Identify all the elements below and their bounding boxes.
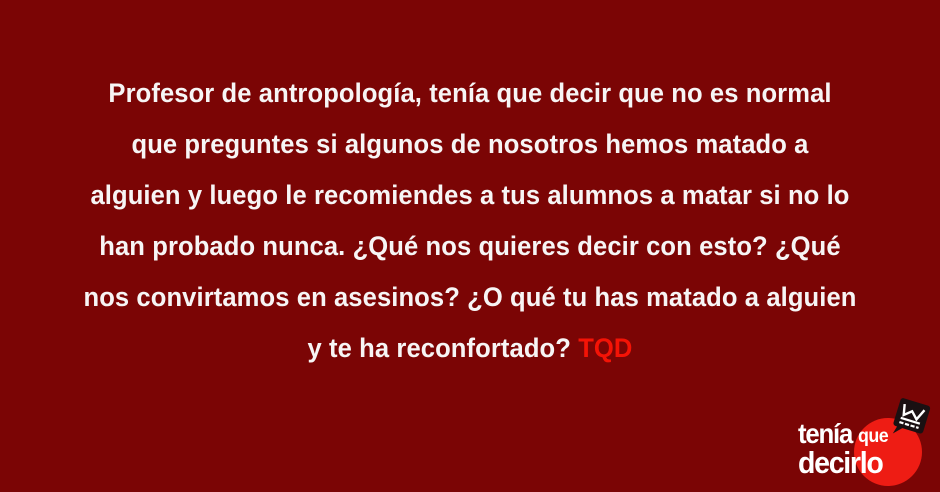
quote-line-2: que preguntes si algunos de nosotros hem… (16, 119, 923, 170)
quote-line-6: y te ha reconfortado? TQD (16, 323, 923, 374)
logo-line-2: decirlo (798, 447, 890, 478)
quote-line-4: han probado nunca. ¿Qué nos quieres deci… (16, 221, 923, 272)
quote-line-5: nos convirtamos en asesinos? ¿O qué tu h… (16, 272, 923, 323)
logo-word-que: que (858, 427, 888, 446)
logo-word-decirlo: decirlo (798, 447, 882, 478)
quote-line-6-text: y te ha reconfortado? (308, 333, 571, 363)
tqd-quote-card: Profesor de antropología, tenía que deci… (0, 0, 940, 492)
quote-text-block: Profesor de antropología, tenía que deci… (0, 68, 940, 374)
logo-word-tenia: tenía (798, 420, 852, 448)
quote-line-3: alguien y luego le recomiendes a tus alu… (16, 170, 923, 221)
tqd-logo[interactable]: teníaque decirlo (786, 398, 940, 492)
logo-line-1: teníaque (798, 420, 890, 448)
quote-line-1: Profesor de antropología, tenía que deci… (16, 68, 923, 119)
tqd-signature: TQD (578, 333, 632, 363)
